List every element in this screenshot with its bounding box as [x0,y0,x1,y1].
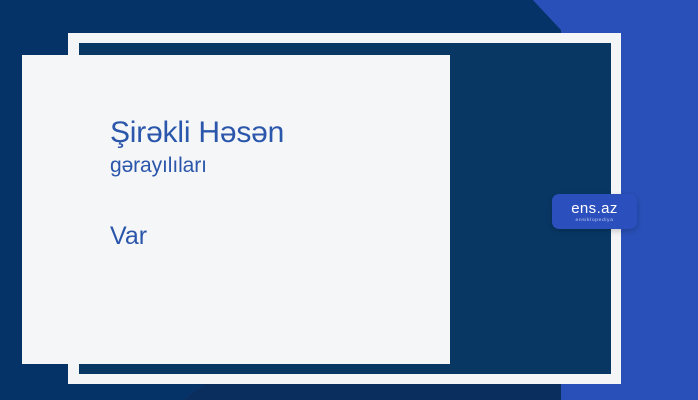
article-cover-card: Şirəkli Həsən gərayılıları Var ens.az en… [0,0,698,400]
ensaz-logo-badge[interactable]: ens.az ensiklopediya [552,194,637,229]
text-block: Şirəkli Həsən gərayılıları Var [110,117,440,251]
page-title: Şirəkli Həsən [110,117,440,149]
content-panel: Şirəkli Həsən gərayılıları Var [22,55,450,364]
page-subtitle: gərayılıları [110,153,440,178]
page-body-text: Var [110,221,440,251]
ensaz-logo-tagline: ensiklopediya [575,218,613,223]
ensaz-logo-wordmark: ens.az [571,201,618,216]
